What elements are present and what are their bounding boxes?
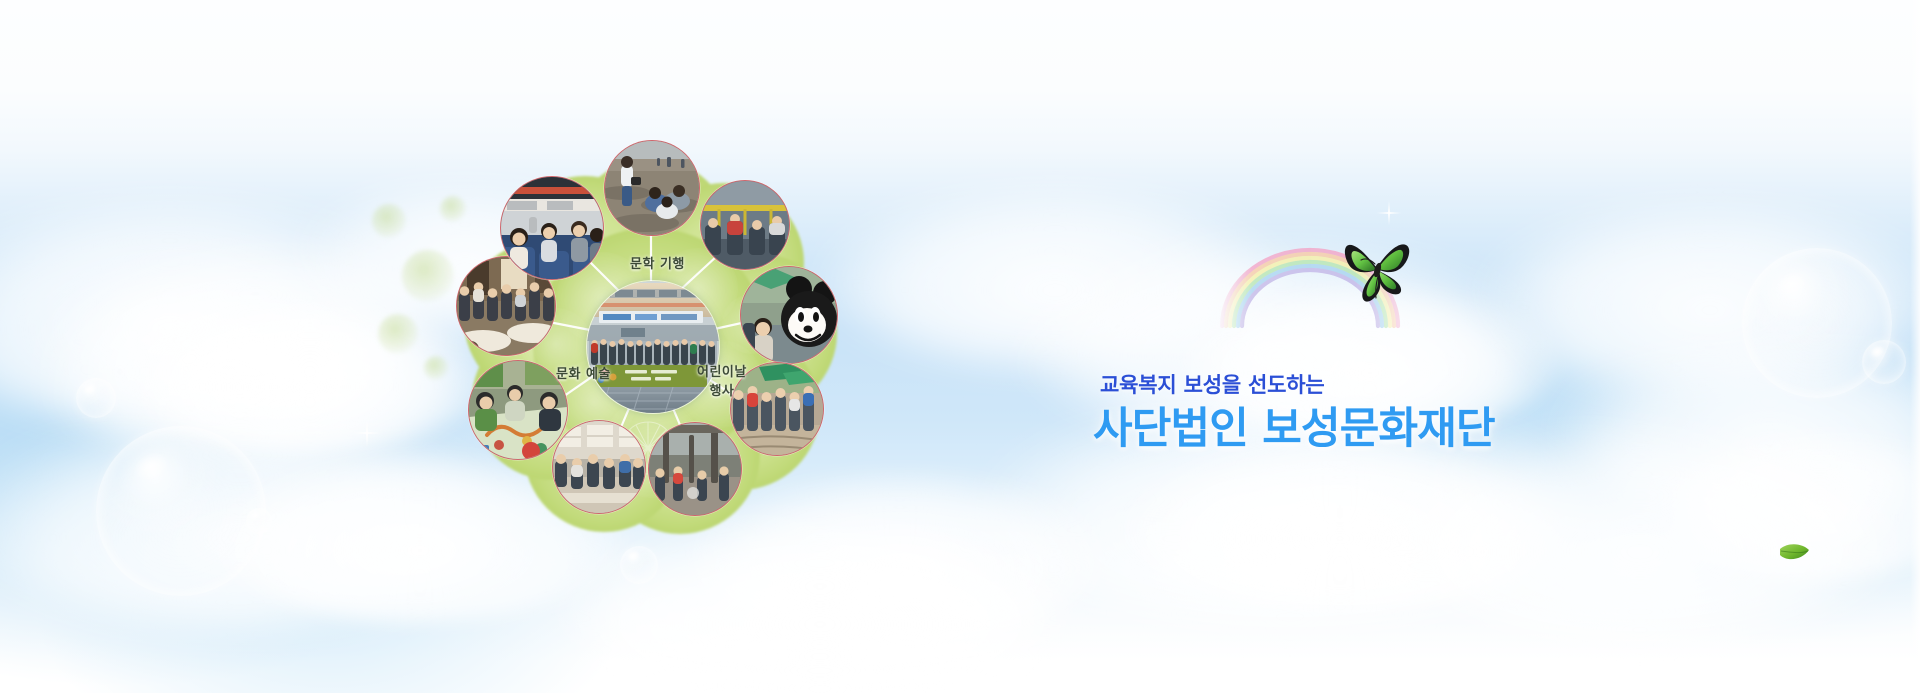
photo-top bbox=[604, 140, 700, 236]
photo-bottom-right bbox=[730, 362, 824, 456]
flower-collage-graphic: 문학 기행 문화 예술 어린이날 행사 bbox=[452, 148, 850, 544]
photo-bottom-r2 bbox=[648, 422, 742, 516]
photo-top-left bbox=[500, 176, 604, 280]
center-photo bbox=[586, 280, 720, 414]
hero-banner: 문학 기행 문화 예술 어린이날 행사 교육복지 보성을 선도하는 사단법인 보… bbox=[0, 0, 1920, 693]
headline-block: 교육복지 보성을 선도하는 사단법인 보성문화재단 bbox=[1093, 374, 1495, 453]
headline-title: 사단법인 보성문화재단 bbox=[1093, 406, 1495, 452]
photo-top-right bbox=[700, 180, 790, 270]
photo-right bbox=[740, 266, 838, 364]
photo-left-lower bbox=[468, 360, 568, 460]
leaf-icon bbox=[1778, 543, 1812, 565]
headline-subtitle: 교육복지 보성을 선도하는 bbox=[1100, 374, 1495, 397]
butterfly-icon bbox=[1336, 236, 1414, 310]
sky-gradient-background bbox=[0, 0, 1920, 693]
